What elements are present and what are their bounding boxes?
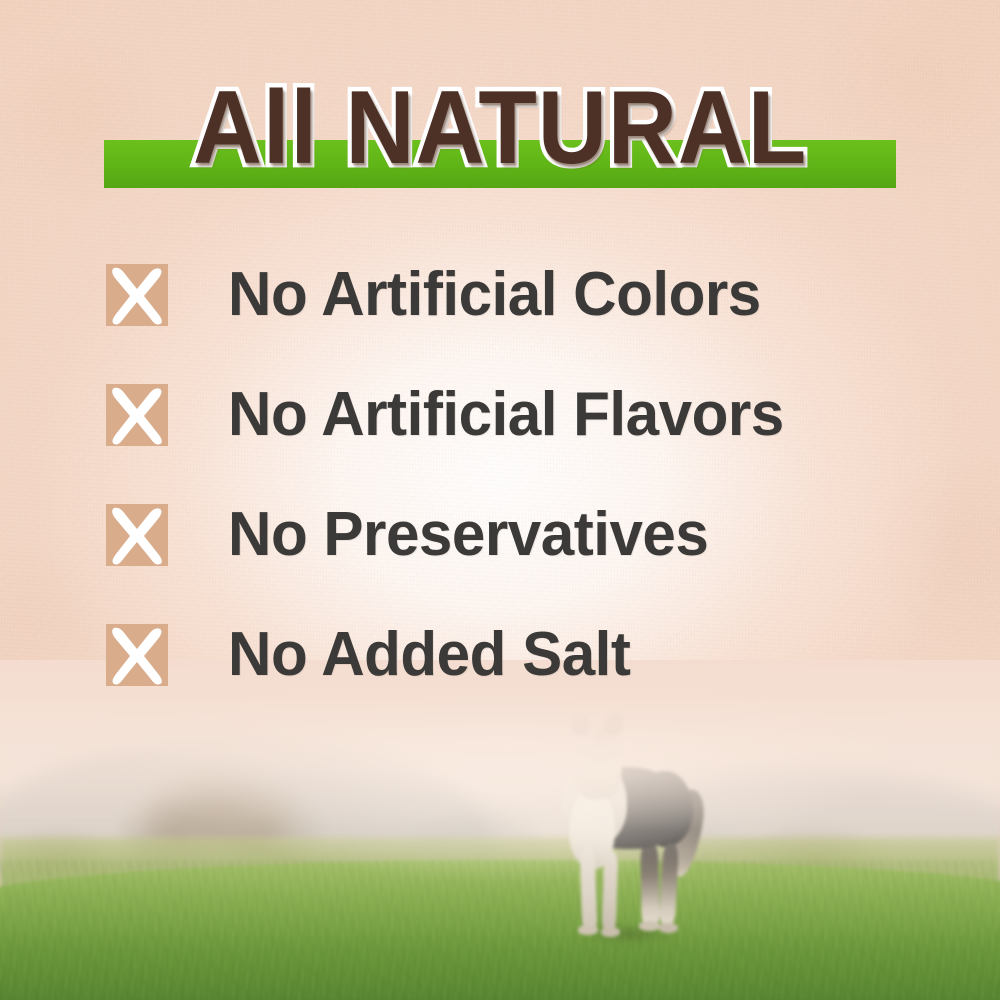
x-mark-icon bbox=[106, 384, 168, 446]
claims-list: No Artificial Colors No Artificial Flavo… bbox=[106, 258, 926, 738]
list-item: No Preservatives bbox=[106, 498, 926, 618]
page-title: All NATURAL bbox=[40, 72, 960, 184]
list-item-label: No Added Salt bbox=[228, 614, 630, 696]
list-item-label: No Artificial Flavors bbox=[228, 374, 784, 456]
dog-paw-front-right bbox=[601, 927, 620, 937]
list-item: No Added Salt bbox=[106, 618, 926, 738]
dog-paw-back-right bbox=[659, 923, 678, 933]
all-natural-poster: All NATURAL No Artificial Colors No Arti… bbox=[0, 0, 1000, 1000]
dog-back-right-leg bbox=[659, 843, 679, 926]
headline-block: All NATURAL bbox=[0, 72, 1000, 198]
list-item-label: No Artificial Colors bbox=[228, 254, 761, 336]
dog-paw-front-left bbox=[578, 925, 598, 935]
x-mark-icon bbox=[106, 624, 168, 686]
border-collie-dog bbox=[535, 715, 715, 945]
x-mark-icon bbox=[106, 264, 168, 326]
dog-front-right-leg bbox=[602, 851, 619, 931]
list-item: No Artificial Flavors bbox=[106, 378, 926, 498]
dog-back-left-leg bbox=[640, 841, 659, 927]
dog-front-left-leg bbox=[580, 847, 598, 931]
list-item: No Artificial Colors bbox=[106, 258, 926, 378]
x-mark-icon bbox=[106, 504, 168, 566]
list-item-label: No Preservatives bbox=[228, 494, 708, 576]
dog-paw-back-left bbox=[639, 921, 660, 931]
foreground-grass-texture bbox=[0, 860, 1000, 1000]
